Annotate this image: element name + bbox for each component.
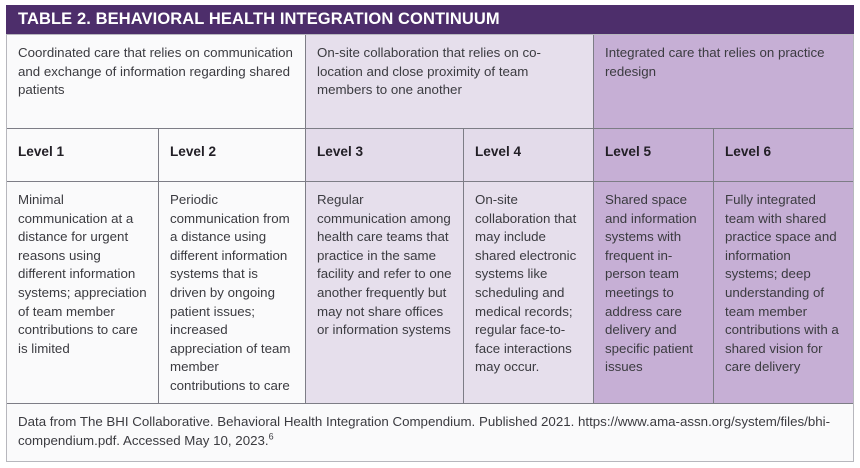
table-2-figure: TABLE 2. BEHAVIORAL HEALTH INTEGRATION C… <box>0 0 860 468</box>
level-header-2-label: Level 2 <box>159 129 305 162</box>
level-header-1-label: Level 1 <box>7 129 158 162</box>
level-header-4: Level 4 <box>464 129 594 182</box>
level-header-5: Level 5 <box>594 129 714 182</box>
table-footnote-reference-marker: 6 <box>269 432 274 442</box>
table-footnote-text: Data from The BHI Collaborative. Behavio… <box>7 404 853 450</box>
level-description-3-text: Regular communication among health care … <box>306 182 463 340</box>
table-title-bar: TABLE 2. BEHAVIORAL HEALTH INTEGRATION C… <box>6 5 854 34</box>
group-header-integrated: Integrated care that relies on practice … <box>594 35 853 129</box>
level-header-3-label: Level 3 <box>306 129 463 162</box>
level-description-6-text: Fully integrated team with shared practi… <box>714 182 853 377</box>
level-description-4-text: On-site collaboration that may include s… <box>464 182 593 377</box>
table-footnote: Data from The BHI Collaborative. Behavio… <box>7 403 853 461</box>
level-header-3: Level 3 <box>306 129 464 182</box>
level-description-2: Periodic communication from a distance u… <box>159 182 306 404</box>
group-header-co-located: On-site collaboration that relies on co-… <box>306 35 594 129</box>
level-header-5-label: Level 5 <box>594 129 713 162</box>
level-header-2: Level 2 <box>159 129 306 182</box>
level-description-2-text: Periodic communication from a distance u… <box>159 182 305 396</box>
level-description-3: Regular communication among health care … <box>306 182 464 404</box>
level-description-5: Shared space and information systems wit… <box>594 182 714 404</box>
level-header-6-label: Level 6 <box>714 129 853 162</box>
table-title: TABLE 2. BEHAVIORAL HEALTH INTEGRATION C… <box>6 10 500 29</box>
group-header-coordinated: Coordinated care that relies on communic… <box>7 35 306 129</box>
level-header-4-label: Level 4 <box>464 129 593 162</box>
level-description-5-text: Shared space and information systems wit… <box>594 182 713 377</box>
group-header-integrated-text: Integrated care that relies on practice … <box>594 35 853 81</box>
level-description-4: On-site collaboration that may include s… <box>464 182 594 404</box>
group-header-co-located-text: On-site collaboration that relies on co-… <box>306 35 593 100</box>
table-footnote-citation: Data from The BHI Collaborative. Behavio… <box>18 414 830 448</box>
level-header-1: Level 1 <box>7 129 159 182</box>
group-header-coordinated-text: Coordinated care that relies on communic… <box>7 35 305 100</box>
level-description-1-text: Minimal communication at a distance for … <box>7 182 158 358</box>
level-description-6: Fully integrated team with shared practi… <box>714 182 853 404</box>
level-header-6: Level 6 <box>714 129 853 182</box>
level-description-1: Minimal communication at a distance for … <box>7 182 159 404</box>
table-grid: Coordinated care that relies on communic… <box>6 34 854 462</box>
